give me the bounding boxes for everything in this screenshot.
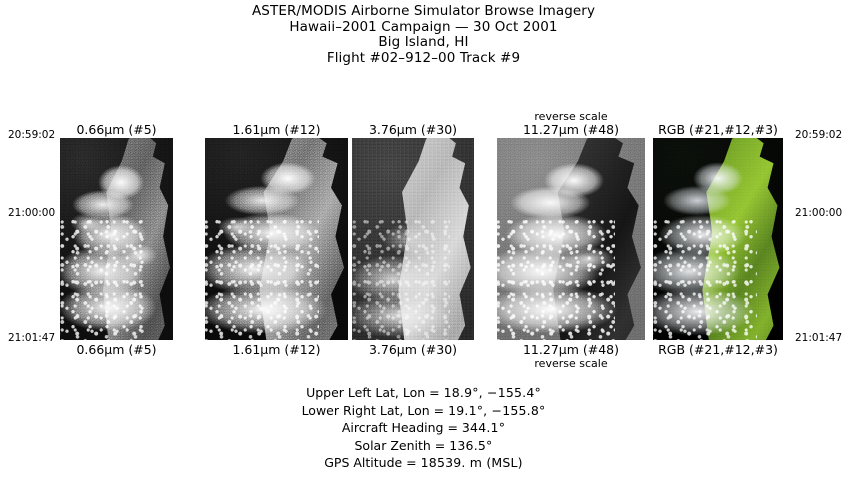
metadata-label: Lower Right Lat, Lon =: [302, 403, 445, 418]
time-label-left-end: 21:01:47: [8, 333, 55, 344]
panel-label-top-3: 3.76μm (#30): [352, 123, 474, 137]
panel-label-bottom-4: 11.27μm (#48): [497, 343, 645, 357]
metadata-row-lower-right-latlon: Lower Right Lat, Lon = 19.1°, −155.8°: [0, 402, 847, 420]
grayscale-image-icon: [497, 138, 645, 340]
browse-imagery-page: ASTER/MODIS Airborne Simulator Browse Im…: [0, 0, 847, 486]
metadata-value: 18539. m (MSL): [421, 455, 523, 470]
sensor-noise: [352, 138, 474, 340]
time-label-left-start: 20:59:02: [8, 130, 55, 141]
panel-label-top-1: 0.66μm (#5): [60, 123, 173, 137]
grayscale-image-icon: [60, 138, 173, 340]
sensor-noise: [497, 138, 645, 340]
image-panel-1-61um[interactable]: [205, 138, 348, 340]
time-label-right-middle: 21:00:00: [795, 208, 842, 219]
metadata-value: 344.1°: [462, 420, 505, 435]
panel-label-top-5: RGB (#21,#12,#3): [653, 123, 783, 137]
metadata-value: 18.9°, −155.4°: [444, 385, 541, 400]
metadata-label: Solar Zenith =: [355, 438, 446, 453]
metadata-label: GPS Altitude =: [324, 455, 416, 470]
metadata-label: Aircraft Heading =: [342, 420, 458, 435]
panel-note-bottom-4: reverse scale: [497, 357, 645, 371]
image-panel-11-27um[interactable]: [497, 138, 645, 340]
panel-label-bottom-1: 0.66μm (#5): [60, 343, 173, 357]
color-composite-image-icon: [653, 138, 783, 340]
panel-label-top-2: 1.61μm (#12): [205, 123, 348, 137]
image-panel-rgb[interactable]: [653, 138, 783, 340]
metadata-row-gps-altitude: GPS Altitude = 18539. m (MSL): [0, 454, 847, 472]
metadata-label: Upper Left Lat, Lon =: [306, 385, 440, 400]
metadata-row-solar-zenith: Solar Zenith = 136.5°: [0, 437, 847, 455]
panel-label-top-4: 11.27μm (#48): [497, 123, 645, 137]
sensor-noise: [60, 138, 173, 340]
time-label-left-middle: 21:00:00: [8, 208, 55, 219]
metadata-value: 136.5°: [449, 438, 492, 453]
panel-label-bottom-5: RGB (#21,#12,#3): [653, 343, 783, 357]
image-panel-3-76um[interactable]: [352, 138, 474, 340]
sensor-noise: [653, 138, 783, 340]
panel-label-bottom-3: 3.76μm (#30): [352, 343, 474, 357]
time-label-right-start: 20:59:02: [795, 130, 842, 141]
metadata-row-upper-left-latlon: Upper Left Lat, Lon = 18.9°, −155.4°: [0, 384, 847, 402]
metadata-row-aircraft-heading: Aircraft Heading = 344.1°: [0, 419, 847, 437]
image-panel-0-66um[interactable]: [60, 138, 173, 340]
grayscale-image-icon: [352, 138, 474, 340]
time-label-right-end: 21:01:47: [795, 333, 842, 344]
grayscale-image-icon: [205, 138, 348, 340]
metadata-block: Upper Left Lat, Lon = 18.9°, −155.4° Low…: [0, 384, 847, 472]
metadata-value: 19.1°, −155.8°: [448, 403, 545, 418]
sensor-noise: [205, 138, 348, 340]
panel-label-bottom-2: 1.61μm (#12): [205, 343, 348, 357]
